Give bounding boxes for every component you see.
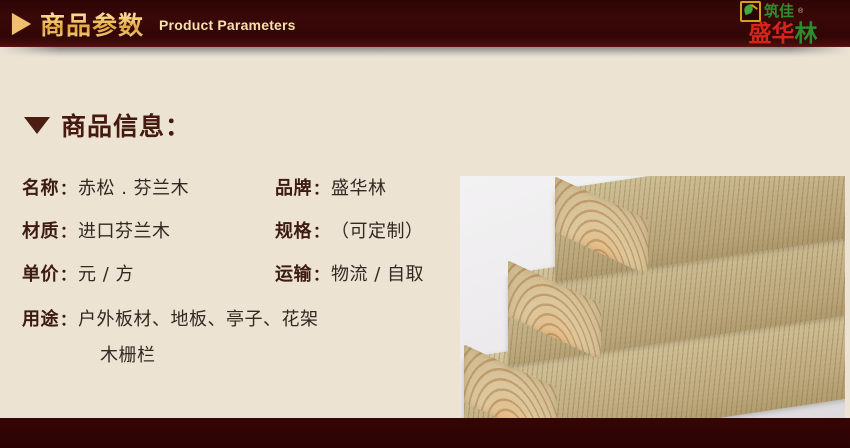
spec-colon: ：: [60, 261, 76, 285]
spec-value: 进口芬兰木: [78, 217, 171, 243]
leaf-badge-icon: [740, 1, 761, 22]
spec-item-material: 材质 ： 进口芬兰木: [22, 217, 275, 243]
spec-item-unit-price: 单价 ： 元 / 方: [22, 260, 275, 286]
logo-brand-top: 筑佳: [764, 4, 794, 19]
spec-item-brand: 品牌 ： 盛华林: [275, 174, 387, 200]
spec-label: 规格: [275, 217, 312, 243]
usage-first-line: 用途 ： 户外板材、地板、亭子、花架: [22, 305, 452, 331]
page-footer: [0, 418, 850, 448]
logo-brand-bottom-red: 盛华: [749, 21, 795, 47]
brand-logo[interactable]: 筑佳 ® 盛华林: [724, 1, 842, 47]
triangle-down-icon: [24, 117, 50, 134]
header-title-group: 商品参数 Product Parameters: [12, 0, 296, 47]
spec-item-specification: 规格 ： （可定制）: [275, 217, 424, 243]
spec-colon: ：: [313, 218, 329, 242]
spec-table: 名称 ： 赤松 . 芬兰木 品牌 ： 盛华林 材质 ： 进口芬兰木 规格: [22, 174, 452, 303]
spec-colon: ：: [60, 175, 76, 199]
spec-value: 盛华林: [331, 174, 387, 200]
spec-value: 元 / 方: [78, 260, 134, 286]
product-photo: [460, 176, 845, 444]
spec-item-shipping: 运输 ： 物流 / 自取: [275, 260, 424, 286]
page-header: 商品参数 Product Parameters 筑佳 ® 盛华林: [0, 0, 850, 47]
logo-brand-bottom-green: 林: [795, 21, 818, 47]
page-content: 商品信息： 名称 ： 赤松 . 芬兰木 品牌 ： 盛华林 材质 ：: [0, 58, 850, 418]
spec-label: 运输: [275, 260, 312, 286]
spec-label: 单价: [22, 260, 59, 286]
registered-mark-icon: ®: [798, 8, 803, 15]
spec-row: 材质 ： 进口芬兰木 规格 ： （可定制）: [22, 217, 452, 260]
header-title-en: Product Parameters: [159, 17, 296, 33]
spec-item-usage: 用途 ： 户外板材、地板、亭子、花架 木栅栏: [22, 305, 452, 367]
spec-item-name: 名称 ： 赤松 . 芬兰木: [22, 174, 275, 200]
triangle-right-icon: [12, 13, 31, 35]
logo-top-row: 筑佳 ®: [724, 1, 842, 22]
spec-label: 用途: [22, 305, 59, 331]
spec-value: （可定制）: [331, 217, 424, 243]
spec-value: 户外板材、地板、亭子、花架: [78, 305, 319, 331]
spec-colon: ：: [313, 261, 329, 285]
logo-brand-bottom: 盛华林: [724, 22, 842, 46]
spec-colon: ：: [60, 306, 76, 330]
header-shadow-divider: [0, 47, 850, 58]
spec-row: 名称 ： 赤松 . 芬兰木 品牌 ： 盛华林: [22, 174, 452, 217]
product-parameters-page: 商品参数 Product Parameters 筑佳 ® 盛华林 商品信息：: [0, 0, 850, 448]
section-heading-text: 商品信息：: [61, 107, 191, 143]
spec-label: 名称: [22, 174, 59, 200]
spec-value: 物流 / 自取: [331, 260, 424, 286]
usage-second-line: 木栅栏: [22, 341, 452, 367]
spec-label: 材质: [22, 217, 59, 243]
spec-colon: ：: [60, 218, 76, 242]
spec-value: 赤松 . 芬兰木: [78, 174, 189, 200]
spec-row: 单价 ： 元 / 方 运输 ： 物流 / 自取: [22, 260, 452, 303]
spec-label: 品牌: [275, 174, 312, 200]
header-title-cn: 商品参数: [40, 6, 144, 42]
section-heading: 商品信息：: [24, 107, 191, 143]
spec-colon: ：: [313, 175, 329, 199]
